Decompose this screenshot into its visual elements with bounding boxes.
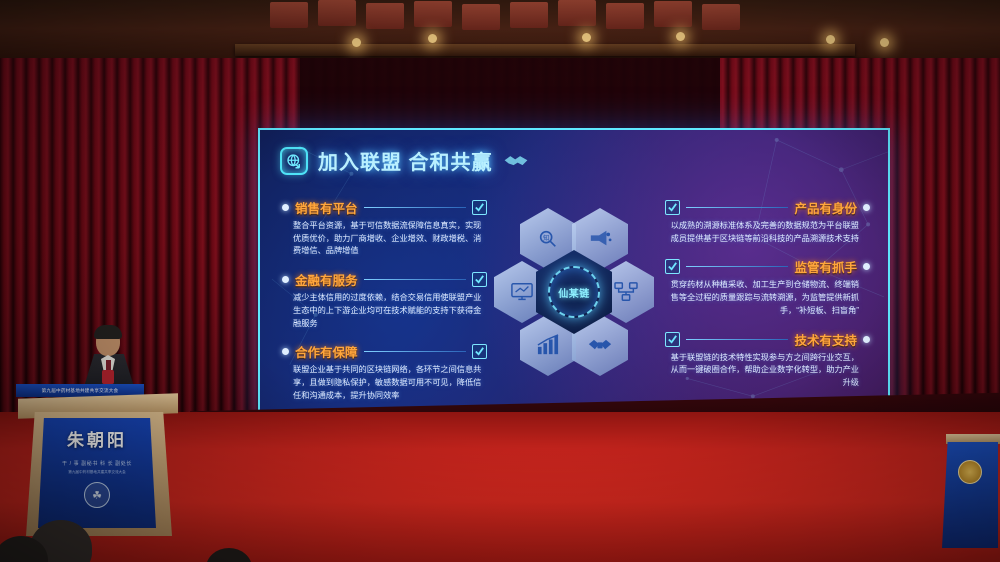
feature-body: 整合平台资源，基于可信数据流保障信息真实，实现优质优价，助力厂商增收、企业增效、… [282, 220, 487, 258]
feature-block: 产品有身份 以成熟的溯源标准体系及完善的数据规范为平台联盟成员提供基于区块链等前… [665, 198, 870, 245]
feature-block: 销售有平台 整合平台资源，基于可信数据流保障信息真实，实现优质优价，助力厂商增收… [282, 198, 487, 258]
feature-heading: 技术有支持 [794, 330, 857, 349]
hexagon-diagram: 知 [494, 208, 654, 376]
speaker-name: 朱朝阳 [67, 426, 127, 451]
globe-arrow-icon [280, 147, 308, 175]
feature-block: 金融有服务 减少主体信用的过度依赖，结合交易信用使联盟产业生态中的上下游企业均可… [282, 270, 487, 330]
auditorium-scene: 加入联盟 合和共赢 销售有平台 整合平台资源，基于可信数据流保障信息真实，实现优 [0, 0, 1000, 562]
core-ring: 仙某链 [548, 266, 600, 318]
stage-lamp [428, 34, 437, 43]
checkmark-icon [665, 200, 680, 215]
secondary-podium [942, 442, 998, 548]
gold-seal-emblem-icon [958, 460, 982, 484]
podium-banner-text: 第九届中药材基地共建共享交流大会 [42, 388, 119, 394]
stage-lamp [352, 38, 361, 47]
feature-heading-row: 销售有平台 [282, 198, 487, 217]
feature-heading: 合作有保障 [295, 342, 358, 361]
speaker-title-line: 干 / 事 副秘书 科 长 副处长 [62, 460, 132, 467]
speaker-lanyard-badge [102, 370, 114, 384]
feature-heading-row: 金融有服务 [282, 270, 487, 289]
conference-name-line: 第九届中药材基地共建共享交流大会 [68, 470, 126, 475]
feature-heading: 销售有平台 [295, 198, 358, 217]
feature-heading: 监管有抓手 [794, 257, 857, 276]
feature-body: 以成熟的溯源标准体系及完善的数据规范为平台联盟成员提供基于区块链等前沿科技的产品… [665, 220, 870, 245]
stage-lamp [880, 38, 889, 47]
bullet-dot-icon [863, 263, 870, 270]
slide-title-text: 加入联盟 合和共赢 [318, 146, 493, 175]
core-label: 仙某链 [558, 285, 590, 300]
bullet-dot-icon [282, 204, 289, 211]
podium-nameplate-panel: 朱朝阳 干 / 事 副秘书 科 长 副处长 第九届中药材基地共建共享交流大会 ☘ [38, 418, 156, 528]
checkmark-icon [665, 332, 680, 347]
heading-rule [364, 207, 466, 208]
stage-lamp [676, 32, 685, 41]
heading-rule [364, 351, 466, 352]
feature-block: 监管有抓手 贯穿药材从种植采收、加工生产到仓储物流、终端销售等全过程的质量跟踪与… [665, 257, 870, 317]
heading-rule [686, 207, 788, 208]
feature-heading-row: 监管有抓手 [665, 257, 870, 276]
handshake-icon [503, 152, 529, 170]
feature-heading: 产品有身份 [794, 198, 857, 217]
right-feature-column: 产品有身份 以成熟的溯源标准体系及完善的数据规范为平台联盟成员提供基于区块链等前… [665, 198, 870, 402]
feature-body: 联盟企业基于共同的区块链网络，各环节之间信息共享，且做到隐私保护，敏感数据可用不… [282, 364, 487, 402]
checkmark-icon [472, 200, 487, 215]
organization-seal-icon: ☘ [84, 482, 110, 508]
speaker-podium: 第九届中药材基地共建共享交流大会 朱朝阳 干 / 事 副秘书 科 长 副处长 第… [18, 396, 178, 536]
left-feature-column: 销售有平台 整合平台资源，基于可信数据流保障信息真实，实现优质优价，助力厂商增收… [282, 198, 487, 414]
checkmark-icon [472, 272, 487, 287]
heading-rule [686, 266, 788, 267]
ceiling-acoustic-panels [260, 0, 760, 40]
feature-body: 基于联盟链的技术特性实现参与方之间跨行业交互，从而一键破圈合作，帮助企业数字化转… [665, 352, 870, 390]
heading-rule [686, 339, 788, 340]
feature-block: 技术有支持 基于联盟链的技术特性实现参与方之间跨行业交互，从而一键破圈合作，帮助… [665, 330, 870, 390]
bullet-dot-icon [282, 348, 289, 355]
secondary-podium-body [942, 442, 998, 548]
stage-lamp [582, 33, 591, 42]
stage-lamp [826, 35, 835, 44]
checkmark-icon [472, 344, 487, 359]
slide-title: 加入联盟 合和共赢 [280, 146, 529, 175]
feature-heading-row: 产品有身份 [665, 198, 870, 217]
speaker-hair [94, 325, 122, 339]
feature-heading: 金融有服务 [295, 270, 358, 289]
feature-heading-row: 合作有保障 [282, 342, 487, 361]
bullet-dot-icon [863, 204, 870, 211]
svg-text:知: 知 [543, 233, 549, 242]
feature-block: 合作有保障 联盟企业基于共同的区块链网络，各环节之间信息共享，且做到隐私保护，敏… [282, 342, 487, 402]
heading-rule [364, 279, 466, 280]
bullet-dot-icon [863, 336, 870, 343]
lighting-truss-upper [235, 44, 855, 56]
checkmark-icon [665, 259, 680, 274]
feature-heading-row: 技术有支持 [665, 330, 870, 349]
bullet-dot-icon [282, 276, 289, 283]
feature-body: 贯穿药材从种植采收、加工生产到仓储物流、终端销售等全过程的质量跟踪与流转溯源，为… [665, 279, 870, 317]
led-presentation-screen: 加入联盟 合和共赢 销售有平台 整合平台资源，基于可信数据流保障信息真实，实现优 [258, 128, 890, 431]
feature-body: 减少主体信用的过度依赖，结合交易信用使联盟产业生态中的上下游企业均可在技术赋能的… [282, 292, 487, 330]
